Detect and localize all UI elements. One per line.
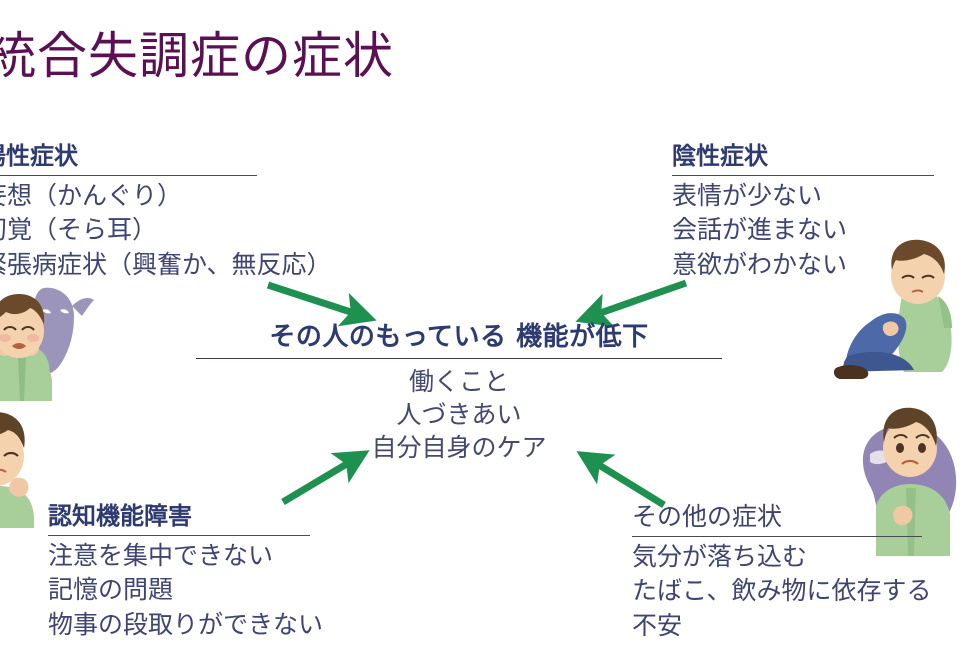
block-cognitive-heading: 認知機能障害 xyxy=(48,503,310,531)
slide-canvas: 統合失調症の症状 xyxy=(0,0,972,648)
list-item: 表情が少ない xyxy=(672,179,934,214)
list-item: 人づきあい xyxy=(196,398,722,431)
page-title: 統合失調症の症状 xyxy=(0,28,394,86)
block-negative-symptoms: 陰性症状 表情が少ない 会話が進まない 意欲がわかない xyxy=(672,143,934,282)
center-heading: その人のもっている 機能が低下 xyxy=(196,316,722,353)
block-positive-heading: 陽性症状 xyxy=(0,143,257,171)
arrow-positive-to-center xyxy=(268,285,366,317)
block-other-rule xyxy=(632,536,922,537)
list-item: 不安 xyxy=(632,609,922,644)
block-positive-rule xyxy=(0,175,257,176)
block-cognitive-rule xyxy=(48,535,310,536)
block-other-symptoms: その他の症状 気分が落ち込む たばこ、飲み物に依存する 不安 xyxy=(632,503,922,643)
list-item: 気分が落ち込む xyxy=(632,540,922,575)
list-item: 会話が進まない xyxy=(672,213,934,248)
block-negative-heading: 陰性症状 xyxy=(672,143,934,171)
center-rule xyxy=(196,358,722,359)
block-other-lines: 気分が落ち込む たばこ、飲み物に依存する 不安 xyxy=(632,540,922,644)
distressed-person-with-ghost-illustration xyxy=(0,276,104,401)
block-cognitive-lines: 注意を集中できない 記憶の問題 物事の段取りができない xyxy=(48,539,310,643)
block-cognitive-impairment: 認知機能障害 注意を集中できない 記憶の問題 物事の段取りができない xyxy=(48,503,310,642)
block-negative-lines: 表情が少ない 会話が進まない 意欲がわかない xyxy=(672,179,934,283)
list-item: 自分自身のケア xyxy=(196,431,722,464)
block-negative-rule xyxy=(672,175,934,176)
block-center-functional-decline: その人のもっている 機能が低下 働くこと 人づきあい 自分自身のケア xyxy=(196,316,722,464)
block-positive-symptoms: 陽性症状 妄想（かんぐり） 幻覚（そら耳） 緊張病症状（興奮か、無反応） xyxy=(0,143,257,282)
list-item: 妄想（かんぐり） xyxy=(0,179,257,214)
center-lines: 働くこと 人づきあい 自分自身のケア xyxy=(196,365,722,464)
list-item: 意欲がわかない xyxy=(672,248,934,283)
list-item: 物事の段取りができない xyxy=(48,608,310,643)
list-item: 働くこと xyxy=(196,365,722,398)
arrow-other-to-center xyxy=(586,457,664,505)
list-item: 幻覚（そら耳） xyxy=(0,213,257,248)
list-item: たばこ、飲み物に依存する xyxy=(632,574,922,609)
list-item: 注意を集中できない xyxy=(48,539,310,574)
list-item: 緊張病症状（興奮か、無反応） xyxy=(0,248,257,283)
block-positive-lines: 妄想（かんぐり） 幻覚（そら耳） 緊張病症状（興奮か、無反応） xyxy=(0,179,257,283)
arrow-negative-to-center xyxy=(586,283,686,318)
block-other-heading: その他の症状 xyxy=(632,503,922,532)
list-item: 記憶の問題 xyxy=(48,573,310,608)
